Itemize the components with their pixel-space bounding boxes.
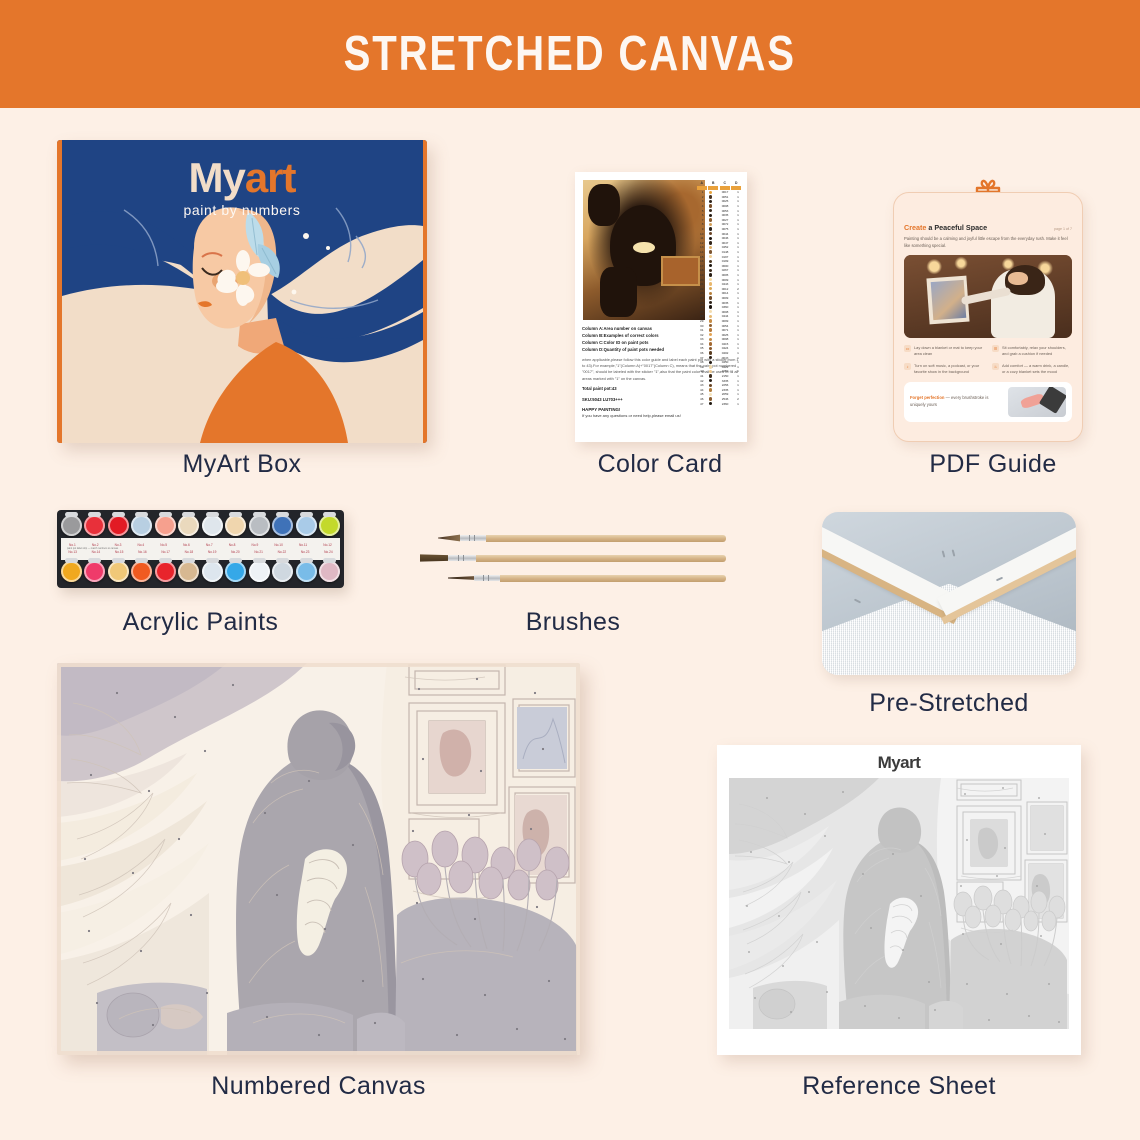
swatch-quantity: 1: [734, 278, 742, 282]
swatch-color-id: 0072: [716, 222, 734, 226]
swatch-color-id: 0415: [716, 342, 734, 346]
swatch-color-dot: [705, 402, 716, 405]
swatch-color-id: 0444: [716, 314, 734, 318]
swatch-color-id: 0402: [716, 351, 734, 355]
col-header-c: C: [719, 181, 731, 185]
col-header-b: B: [708, 181, 720, 185]
swatch-area-number: 37: [696, 356, 705, 360]
reference-sheet-logo: Myart: [729, 754, 1069, 771]
swatch-color-dot: [705, 347, 716, 350]
paint-pot-label: No.24: [324, 550, 333, 554]
swatch-color-id: 0005: [716, 273, 734, 277]
swatch-area-number: 28: [696, 314, 705, 318]
swatch-color-id: 0047: [716, 356, 734, 360]
swatch-row: 3404151: [696, 342, 742, 347]
swatch-quantity: 1: [734, 190, 742, 194]
swatch-color-dot: [705, 324, 716, 327]
swatch-area-number: 39: [696, 365, 705, 369]
swatch-color-id: 0424: [716, 346, 734, 350]
caption-numbered-canvas: Numbered Canvas: [57, 1072, 580, 1101]
email-line: If you have any questions or need help,p…: [582, 413, 740, 418]
swatch-quantity: 1: [734, 282, 742, 286]
brush-flat-handle: [476, 555, 726, 562]
paint-pot[interactable]: [131, 515, 152, 536]
swatch-row: 4322561: [696, 383, 742, 388]
swatch-quantity: 1: [734, 374, 742, 378]
swatch-quantity: 1: [734, 218, 742, 222]
brush-liner: [448, 574, 726, 582]
swatch-quantity: 1: [734, 213, 742, 217]
swatch-row: 3904221: [696, 365, 742, 370]
acrylic-paints-figure: No.1No.2No.3No.4No.5No.6No.7No.8No.9No.1…: [57, 510, 344, 588]
swatch-area-number: 22: [696, 287, 705, 291]
swatch-quantity: 1: [734, 209, 742, 213]
swatch-row: 3804501: [696, 360, 742, 365]
swatch-color-dot: [705, 191, 716, 194]
paint-pot[interactable]: [319, 515, 340, 536]
swatch-color-dot: [705, 379, 716, 382]
swatch-row: 2200122: [696, 286, 742, 291]
paint-pot[interactable]: [108, 561, 129, 582]
swatch-quantity: 1: [734, 250, 742, 254]
swatch-area-number: 30: [696, 324, 705, 328]
swatch-color-dot: [705, 351, 716, 354]
color-swatch-table: A B C D 10017120051130025140008150053160…: [696, 181, 742, 406]
swatch-area-number: 43: [696, 383, 705, 387]
swatch-color-id: 0071: [716, 328, 734, 332]
pdf-footer-text: Forget perfection — every brushstroke is…: [910, 395, 1002, 408]
reference-sheet-image: Myart: [717, 745, 1081, 1055]
pdf-photo: [904, 255, 1072, 338]
paint-pot[interactable]: [272, 561, 293, 582]
swatch-color-id: 0014: [716, 291, 734, 295]
swatch-color-id: 2335: [716, 388, 734, 392]
caption-color-card: Color Card: [540, 450, 780, 479]
swatch-area-number: 5: [696, 209, 705, 213]
swatch-row: 3604021: [696, 351, 742, 356]
swatch-color-id: 0452: [716, 245, 734, 249]
swatch-row: 900751: [696, 227, 742, 232]
swatch-quantity: 1: [734, 296, 742, 300]
swatch-color-dot: [705, 278, 716, 281]
swatch-quantity: 1: [734, 369, 742, 373]
caption-pre-stretched: Pre-Stretched: [822, 689, 1076, 718]
swatch-row: 1401481: [696, 250, 742, 255]
swatch-row: 2700081: [696, 309, 742, 314]
swatch-color-dot: [705, 223, 716, 226]
swatch-row: 3100711: [696, 328, 742, 333]
swatch-area-number: 18: [696, 268, 705, 272]
swatch-row: 3700471: [696, 355, 742, 360]
box-logo: Myart paint by numbers: [57, 154, 427, 218]
swatch-color-dot: [705, 397, 716, 400]
swatch-row: 1000441: [696, 231, 742, 236]
paint-pot[interactable]: [84, 561, 105, 582]
swatch-area-number: 10: [696, 232, 705, 236]
swatch-quantity: 1: [734, 301, 742, 305]
swatch-color-dot: [705, 328, 716, 331]
staple-1: [854, 599, 861, 604]
caption-brushes: Brushes: [420, 608, 726, 637]
swatch-color-dot: [705, 338, 716, 341]
color-card-reference-image: [583, 180, 705, 320]
swatch-quantity: 1: [734, 195, 742, 199]
swatch-color-dot: [705, 315, 716, 318]
brush-round-tip: [438, 534, 460, 542]
swatch-color-id: 2546: [716, 397, 734, 401]
swatch-row: 1304521: [696, 245, 742, 250]
swatch-color-id: 0600: [716, 264, 734, 268]
swatch-quantity: 1: [734, 392, 742, 396]
swatch-area-number: 29: [696, 319, 705, 323]
swatch-color-id: 3335: [716, 379, 734, 383]
swatch-quantity: 1: [734, 342, 742, 346]
paint-pot[interactable]: [84, 515, 105, 536]
swatch-color-id: 0054: [716, 324, 734, 328]
swatch-area-number: 19: [696, 273, 705, 277]
paint-pot-label: No.19: [208, 550, 217, 554]
swatch-row: 4625462: [696, 397, 742, 402]
brush-round: [438, 534, 726, 542]
swatch-color-id: 2059: [716, 392, 734, 396]
paint-pot-row-bottom: [61, 561, 340, 582]
swatch-row: 1200471: [696, 241, 742, 246]
swatch-quantity: 2: [734, 287, 742, 291]
pdf-guide-figure: Create a Peaceful Space page 1 of 7 Pain…: [893, 172, 1083, 442]
swatch-row: 1802671: [696, 268, 742, 273]
page-title: STRETCHED CANVAS: [344, 26, 796, 82]
swatch-color-dot: [705, 361, 716, 364]
swatch-row: 700271: [696, 218, 742, 223]
swatch-row: 2900991: [696, 319, 742, 324]
paint-pot[interactable]: [249, 561, 270, 582]
staple-2: [942, 550, 946, 557]
swatch-quantity: 1: [734, 232, 742, 236]
swatch-area-number: 35: [696, 346, 705, 350]
pdf-tips-grid: ▭Lay down a blanket or mat to keep your …: [904, 345, 1072, 374]
pdf-guide-page: Create a Peaceful Space page 1 of 7 Pain…: [893, 192, 1083, 442]
swatch-color-dot: [705, 388, 716, 391]
paint-pot[interactable]: [225, 561, 246, 582]
swatch-color-id: 0009: [716, 296, 734, 300]
brush-liner-tip: [448, 574, 474, 582]
swatch-color-dot: [705, 204, 716, 207]
paint-pot-label: No.22: [278, 550, 287, 554]
swatch-color-dot: [705, 200, 716, 203]
swatch-area-number: 25: [696, 301, 705, 305]
paint-tray: No.1No.2No.3No.4No.5No.6No.7No.8No.9No.1…: [57, 510, 344, 588]
swatch-color-dot: [705, 232, 716, 235]
swatch-row: 4233351: [696, 378, 742, 383]
brush-flat-ferrule: [448, 555, 476, 561]
swatch-quantity: 1: [734, 351, 742, 355]
swatch-color-id: 2256: [716, 383, 734, 387]
swatch-color-dot: [705, 319, 716, 322]
pdf-tip-4: ♨Add comfort — a warm drink, a candle, o…: [992, 363, 1072, 375]
paint-pot-label: No.20: [231, 550, 240, 554]
paint-pot[interactable]: [319, 561, 340, 582]
swatch-area-number: 23: [696, 291, 705, 295]
myart-box-image: Myart paint by numbers: [57, 140, 427, 443]
swatch-quantity: 1: [734, 379, 742, 383]
paint-pot[interactable]: [178, 561, 199, 582]
swatch-area-number: 41: [696, 374, 705, 378]
paint-pot[interactable]: [61, 515, 82, 536]
swatch-quantity: 2: [734, 397, 742, 401]
swatch-area-number: 2: [696, 195, 705, 199]
swatch-quantity: 1: [734, 204, 742, 208]
paint-pot[interactable]: [155, 561, 176, 582]
swatch-quantity: 1: [734, 259, 742, 263]
swatch-color-id: 0099: [716, 319, 734, 323]
pre-stretched-image: [822, 512, 1076, 675]
swatch-color-id: 0035: [716, 301, 734, 305]
swatch-color-id: 0027: [716, 218, 734, 222]
swatch-row: 1100461: [696, 236, 742, 241]
caption-myart-box: MyArt Box: [57, 450, 427, 479]
staple-3: [952, 549, 956, 556]
swatch-color-id: 0046: [716, 236, 734, 240]
brush-liner-ferrule: [474, 575, 500, 581]
swatch-area-number: 26: [696, 305, 705, 309]
pdf-tip-2-text: Sit comfortably, relax your shoulders, a…: [1002, 345, 1072, 357]
swatch-quantity: 1: [734, 324, 742, 328]
swatch-color-id: 0009: [716, 278, 734, 282]
paint-pot-label: No.23: [301, 550, 310, 554]
swatch-color-dot: [705, 195, 716, 198]
paint-pot[interactable]: [131, 561, 152, 582]
swatch-color-id: 0098: [716, 337, 734, 341]
pdf-tip-2: ☰Sit comfortably, relax your shoulders, …: [992, 345, 1072, 357]
logo-my: My: [188, 154, 244, 201]
paint-pot[interactable]: [202, 515, 223, 536]
swatch-color-dot: [705, 305, 716, 308]
swatch-color-dot: [705, 255, 716, 258]
swatch-color-dot: [705, 227, 716, 230]
swatch-quantity: 1: [734, 241, 742, 245]
swatch-row: 1501971: [696, 254, 742, 259]
swatch-color-id: 0148: [716, 250, 734, 254]
caption-acrylic-paints: Acrylic Paints: [57, 608, 344, 637]
swatch-area-number: 4: [696, 204, 705, 208]
pdf-tip-4-text: Add comfort — a warm drink, a candle, or…: [1002, 363, 1072, 375]
swatch-quantity: 1: [734, 245, 742, 249]
pdf-tip-3-text: Turn on soft music, a podcast, or your f…: [914, 363, 984, 375]
swatch-quantity: 1: [734, 310, 742, 314]
paint-pot[interactable]: [108, 515, 129, 536]
swatch-quantity: 1: [734, 333, 742, 337]
numbered-canvas-lineart: [57, 663, 580, 1055]
swatch-quantity: 1: [734, 255, 742, 259]
paint-pot[interactable]: [272, 515, 293, 536]
swatch-area-number: 16: [696, 259, 705, 263]
swatch-row: 300251: [696, 199, 742, 204]
swatch-color-id: 0443: [716, 282, 734, 286]
reference-sheet-figure: Myart: [717, 745, 1081, 1055]
pdf-footer-accent: Forget perfection: [910, 395, 944, 400]
swatch-area-number: 3: [696, 199, 705, 203]
swatch-row: 2104431: [696, 282, 742, 287]
swatch-area-number: 34: [696, 342, 705, 346]
swatch-area-number: 31: [696, 328, 705, 332]
swatch-quantity: 1: [734, 314, 742, 318]
swatch-color-dot: [705, 393, 716, 396]
swatch-area-number: 13: [696, 245, 705, 249]
paint-pot[interactable]: [296, 561, 317, 582]
box-tagline: paint by numbers: [57, 202, 427, 218]
swatch-row: 4520591: [696, 392, 742, 397]
swatch-color-id: 1059: [716, 369, 734, 373]
swatch-color-id: 0053: [716, 209, 734, 213]
swatch-color-id: 0422: [716, 365, 734, 369]
swatch-row: 2000091: [696, 277, 742, 282]
swatch-color-id: 0199: [716, 259, 734, 263]
swatch-color-id: 0044: [716, 232, 734, 236]
pdf-title-accent: Create: [904, 223, 926, 232]
pdf-tip-1: ▭Lay down a blanket or mat to keep your …: [904, 345, 984, 357]
swatch-row: 4723601: [696, 401, 742, 406]
swatch-area-number: 1: [696, 190, 705, 194]
paint-pot[interactable]: [225, 515, 246, 536]
paint-pot[interactable]: [296, 515, 317, 536]
col-header-d: D: [731, 181, 743, 185]
swatch-color-id: 0047: [716, 241, 734, 245]
pdf-page-label: page 1 of 7: [1054, 227, 1072, 231]
swatch-quantity: 1: [734, 356, 742, 360]
swatch-quantity: 1: [734, 264, 742, 268]
swatch-color-dot: [705, 250, 716, 253]
paint-pot[interactable]: [202, 561, 223, 582]
swatch-color-dot: [705, 282, 716, 285]
swatch-color-dot: [705, 246, 716, 249]
swatch-color-id: 0025: [716, 333, 734, 337]
swatch-color-dot: [705, 214, 716, 217]
swatch-row: 1706001: [696, 264, 742, 269]
swatch-area-number: 21: [696, 282, 705, 286]
col-header-a: A: [696, 181, 708, 185]
swatch-color-dot: [705, 370, 716, 373]
swatch-area-number: 45: [696, 392, 705, 396]
swatch-row: 1900051: [696, 273, 742, 278]
swatch-area-number: 36: [696, 351, 705, 355]
swatch-area-number: 14: [696, 250, 705, 254]
color-card-image: Column A:Area number on canvas Column B:…: [575, 172, 747, 442]
swatch-area-number: 33: [696, 337, 705, 341]
paint-pot-label: No.15: [115, 550, 124, 554]
brush-round-handle: [486, 535, 726, 542]
swatch-color-dot: [705, 237, 716, 240]
swatch-row: 500531: [696, 208, 742, 213]
swatch-quantity: 1: [734, 328, 742, 332]
swatch-quantity: 1: [734, 222, 742, 226]
swatch-color-dot: [705, 301, 716, 304]
swatch-color-id: 0025: [716, 199, 734, 203]
blanket-icon: ▭: [904, 345, 911, 352]
paint-pot[interactable]: [249, 515, 270, 536]
paint-pot[interactable]: [61, 561, 82, 582]
color-card-figure: Column A:Area number on canvas Column B:…: [575, 172, 747, 442]
pdf-tip-1-text: Lay down a blanket or mat to keep your a…: [914, 345, 984, 357]
swatch-area-number: 24: [696, 296, 705, 300]
label-row-bottom: No.13No.14No.15No.16No.17No.18No.19No.20…: [61, 550, 340, 554]
swatch-row: 600351: [696, 213, 742, 218]
swatch-quantity: 1: [734, 388, 742, 392]
swatch-quantity: 1: [734, 227, 742, 231]
swatch-quantity: 1: [734, 236, 742, 240]
swatch-color-id: 0075: [716, 227, 734, 231]
paint-pot-label: No.17: [161, 550, 170, 554]
pdf-footer-thumbnail: [1008, 387, 1066, 417]
swatch-color-id: 0267: [716, 268, 734, 272]
swatch-area-number: 17: [696, 264, 705, 268]
paint-pot[interactable]: [155, 515, 176, 536]
brushes-figure: [420, 528, 726, 590]
swatch-row: 4010591: [696, 369, 742, 374]
pre-stretched-figure: [822, 512, 1076, 675]
swatch-color-id: 0051: [716, 195, 734, 199]
swatch-quantity: 1: [734, 273, 742, 277]
swatch-row: 2500351: [696, 300, 742, 305]
swatch-color-id: 0017: [716, 190, 734, 194]
music-icon: ♪: [904, 363, 911, 370]
pdf-title-rest: a Peaceful Space: [926, 223, 987, 232]
swatch-quantity: 1: [734, 346, 742, 350]
swatch-area-number: 27: [696, 310, 705, 314]
swatch-area-number: 8: [696, 222, 705, 226]
swatch-color-dot: [705, 287, 716, 290]
swatch-color-dot: [705, 296, 716, 299]
swatch-color-dot: [705, 365, 716, 368]
swatch-color-dot: [705, 384, 716, 387]
paint-pot-label: No.18: [185, 550, 194, 554]
candle-icon: ♨: [992, 363, 999, 370]
swatch-color-dot: [705, 292, 716, 295]
swatch-row: 2603601: [696, 305, 742, 310]
swatch-color-id: 0197: [716, 255, 734, 259]
happy-painting-line: HAPPY PAINTING!: [582, 407, 740, 412]
paint-pot-label: No.14: [92, 550, 101, 554]
pdf-footer-callout: Forget perfection — every brushstroke is…: [904, 382, 1072, 422]
swatch-color-id: 0035: [716, 213, 734, 217]
swatch-row: 4121501: [696, 374, 742, 379]
myart-box-figure: Myart paint by numbers: [57, 140, 427, 443]
swatch-area-number: 9: [696, 227, 705, 231]
pdf-subtitle: Painting should be a calming and joyful …: [904, 236, 1072, 249]
swatch-color-id: 2360: [716, 402, 734, 406]
numbered-canvas-figure: [57, 663, 580, 1055]
swatch-color-dot: [705, 333, 716, 336]
swatch-color-dot: [705, 241, 716, 244]
swatch-quantity: 1: [734, 268, 742, 272]
page-header: STRETCHED CANVAS: [0, 0, 1140, 108]
paint-pot-label: No.16: [138, 550, 147, 554]
swatch-quantity: 1: [734, 402, 742, 406]
paint-pot-label: No.13: [68, 550, 77, 554]
swatch-row: 400081: [696, 204, 742, 209]
swatch-area-number: 11: [696, 236, 705, 240]
paint-pot[interactable]: [178, 515, 199, 536]
swatch-quantity: 1: [734, 305, 742, 309]
swatch-color-dot: [705, 269, 716, 272]
swatch-quantity: 1: [734, 383, 742, 387]
reference-sheet-lineart: [729, 778, 1069, 1029]
paint-pot-label: No.21: [254, 550, 263, 554]
swatch-color-dot: [705, 342, 716, 345]
swatch-color-id: 0008: [716, 310, 734, 314]
swatch-area-number: 15: [696, 255, 705, 259]
swatch-area-number: 42: [696, 379, 705, 383]
paint-label-strip: No.1No.2No.3No.4No.5No.6No.7No.8No.9No.1…: [61, 538, 340, 560]
